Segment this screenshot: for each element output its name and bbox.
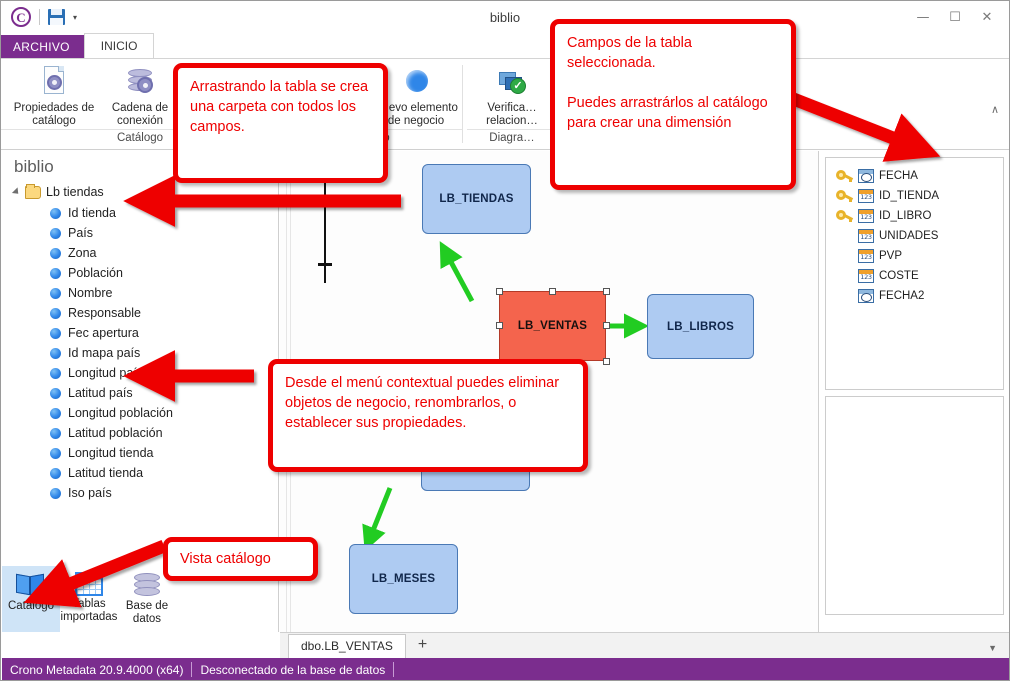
bullet-icon bbox=[50, 468, 61, 479]
diagram-node-label: LB_LIBROS bbox=[667, 321, 734, 333]
tree-field-label: Iso país bbox=[68, 486, 112, 500]
ribbon-divider bbox=[462, 65, 463, 143]
add-tab-button[interactable]: + bbox=[406, 634, 439, 658]
tree-field-label: Latitud población bbox=[68, 426, 163, 440]
tree-field-item[interactable]: Longitud tienda bbox=[8, 443, 278, 463]
field-row[interactable]: 123UNIDADES bbox=[826, 226, 1003, 246]
tree-field-item[interactable]: Zona bbox=[8, 243, 278, 263]
title-bar: C ▾ biblio — ☐ ✕ bbox=[1, 1, 1009, 33]
ribbon-collapse-icon[interactable]: ∧ bbox=[991, 103, 999, 116]
bullet-icon bbox=[50, 348, 61, 359]
bullet-icon bbox=[50, 288, 61, 299]
key-icon bbox=[836, 189, 853, 203]
bullet-icon bbox=[50, 408, 61, 419]
callout-catalog-view: Vista catálogo bbox=[163, 537, 318, 581]
resize-handle-e[interactable] bbox=[603, 322, 610, 329]
number-type-icon: 123 bbox=[858, 209, 874, 223]
nav-item-tablas-importadas[interactable]: Tablas importadas bbox=[60, 566, 118, 632]
field-name: UNIDADES bbox=[879, 230, 938, 242]
tree-field-label: Longitud tienda bbox=[68, 446, 154, 460]
resize-handle-nw[interactable] bbox=[496, 288, 503, 295]
field-row[interactable]: 123ID_LIBRO bbox=[826, 206, 1003, 226]
ribbon: Propiedades de catálogo Cadena de conexi… bbox=[1, 58, 1009, 150]
maximize-button[interactable]: ☐ bbox=[939, 2, 971, 32]
diagram-node-lb-ventas[interactable]: LB_VENTAS bbox=[499, 291, 606, 361]
bullet-icon bbox=[50, 308, 61, 319]
tab-inicio[interactable]: INICIO bbox=[84, 33, 155, 59]
resize-handle-ne[interactable] bbox=[603, 288, 610, 295]
tree-field-item[interactable]: Nombre bbox=[8, 283, 278, 303]
field-name: ID_LIBRO bbox=[879, 210, 931, 222]
tree-field-label: Nombre bbox=[68, 286, 112, 300]
tabstrip-left-filler bbox=[2, 632, 280, 658]
tree-field-label: Fec apertura bbox=[68, 326, 139, 340]
key-icon-placeholder bbox=[836, 249, 853, 263]
field-name: ID_TIENDA bbox=[879, 190, 939, 202]
date-type-icon bbox=[858, 169, 874, 183]
status-connection: Desconectado de la base de datos bbox=[192, 663, 393, 677]
tree-children: Id tiendaPaísZonaPoblaciónNombreResponsa… bbox=[8, 203, 278, 503]
window-controls: — ☐ ✕ bbox=[907, 1, 1003, 33]
resize-handle-n[interactable] bbox=[549, 288, 556, 295]
ribbon-group-diagrama: ✓ Verifica… relacion… Diagra… bbox=[467, 61, 557, 149]
diagram-connector-cardinality bbox=[318, 263, 332, 266]
key-icon bbox=[836, 209, 853, 223]
document-tab-dbo-lb-ventas[interactable]: dbo.LB_VENTAS bbox=[288, 634, 406, 658]
tree-field-item[interactable]: Id mapa país bbox=[8, 343, 278, 363]
tree-field-item[interactable]: Población bbox=[8, 263, 278, 283]
tree-field-label: Latitud tienda bbox=[68, 466, 143, 480]
callout-drag-table: Arrastrando la tabla se crea una carpeta… bbox=[173, 63, 388, 183]
bullet-icon bbox=[50, 208, 61, 219]
tree-node-lb-tiendas[interactable]: Lb tiendas bbox=[8, 181, 278, 203]
number-type-icon: 123 bbox=[858, 229, 874, 243]
diagram-node-label: LB_TIENDAS bbox=[439, 193, 513, 205]
ribbon-button-cadena-conexion[interactable]: Cadena de conexión bbox=[97, 61, 183, 128]
date-type-icon bbox=[858, 289, 874, 303]
ribbon-button-label: Propiedades de catálogo bbox=[11, 102, 97, 128]
document-tab-strip: dbo.LB_VENTAS + ▼ bbox=[280, 632, 1009, 658]
number-type-icon: 123 bbox=[858, 269, 874, 283]
tree-field-item[interactable]: Latitud país bbox=[8, 383, 278, 403]
key-icon bbox=[836, 169, 853, 183]
tree-field-label: Población bbox=[68, 266, 123, 280]
tree-field-label: Responsable bbox=[68, 306, 141, 320]
chevron-expand-icon[interactable] bbox=[12, 187, 21, 196]
properties-panel[interactable] bbox=[825, 396, 1004, 615]
verify-relations-icon: ✓ bbox=[495, 65, 529, 99]
blue-ball-icon bbox=[399, 65, 433, 99]
document-gear-icon bbox=[37, 65, 71, 99]
catalog-tree: Lb tiendas Id tiendaPaísZonaPoblaciónNom… bbox=[2, 181, 278, 503]
bullet-icon bbox=[50, 488, 61, 499]
nav-item-label: Catálogo bbox=[8, 600, 54, 613]
tree-field-item[interactable]: Id tienda bbox=[8, 203, 278, 223]
window-title: biblio bbox=[1, 10, 1009, 25]
ribbon-group-label: Diagra… bbox=[467, 129, 557, 144]
diagram-node-label: LB_VENTAS bbox=[518, 320, 587, 332]
minimize-button[interactable]: — bbox=[907, 2, 939, 32]
tree-field-item[interactable]: Iso país bbox=[8, 483, 278, 503]
status-bar: Crono Metadata 20.9.4000 (x64) Desconect… bbox=[2, 658, 1010, 681]
database-icon bbox=[134, 572, 160, 598]
nav-item-catalogo[interactable]: Catálogo bbox=[2, 566, 60, 632]
key-icon-placeholder bbox=[836, 229, 853, 243]
field-row[interactable]: FECHA2 bbox=[826, 286, 1003, 306]
bullet-icon bbox=[50, 428, 61, 439]
callout-context-menu: Desde el menú contextual puedes eliminar… bbox=[268, 359, 588, 472]
folder-icon bbox=[25, 186, 41, 199]
fields-list[interactable]: FECHA123ID_TIENDA123ID_LIBRO123UNIDADES1… bbox=[825, 157, 1004, 390]
field-name: COSTE bbox=[879, 270, 919, 282]
tree-field-label: Longitud país bbox=[68, 366, 143, 380]
resize-handle-w[interactable] bbox=[496, 322, 503, 329]
field-name: PVP bbox=[879, 250, 902, 262]
tree-field-label: Longitud población bbox=[68, 406, 173, 420]
status-version: Crono Metadata 20.9.4000 (x64) bbox=[2, 663, 191, 677]
diagram-node-label: LB_MESES bbox=[372, 573, 436, 585]
chevron-down-icon[interactable]: ▼ bbox=[988, 643, 997, 653]
bullet-icon bbox=[50, 228, 61, 239]
bullet-icon bbox=[50, 448, 61, 459]
table-grid-icon bbox=[75, 572, 103, 596]
tree-field-label: País bbox=[68, 226, 93, 240]
ribbon-tab-strip: ARCHIVO INICIO bbox=[1, 33, 1009, 59]
number-type-icon: 123 bbox=[858, 189, 874, 203]
tree-field-label: Id tienda bbox=[68, 206, 116, 220]
ribbon-button-verificar-relaciones[interactable]: ✓ Verifica… relacion… bbox=[469, 61, 555, 128]
nav-item-label: Base de datos bbox=[118, 600, 176, 626]
database-gear-icon bbox=[123, 65, 157, 99]
bullet-icon bbox=[50, 388, 61, 399]
book-icon bbox=[16, 572, 46, 598]
fields-panel: FECHA123ID_TIENDA123ID_LIBRO123UNIDADES1… bbox=[820, 151, 1009, 632]
number-type-icon: 123 bbox=[858, 249, 874, 263]
diagram-node-lb-meses[interactable]: LB_MESES bbox=[349, 544, 458, 614]
diagram-node-lb-libros[interactable]: LB_LIBROS bbox=[647, 294, 754, 359]
tree-field-item[interactable]: Fec apertura bbox=[8, 323, 278, 343]
nav-item-label: Tablas importadas bbox=[60, 598, 118, 624]
bullet-icon bbox=[50, 248, 61, 259]
field-row[interactable]: 123COSTE bbox=[826, 266, 1003, 286]
key-icon-placeholder bbox=[836, 289, 853, 303]
tree-field-item[interactable]: Responsable bbox=[8, 303, 278, 323]
field-row[interactable]: 123ID_TIENDA bbox=[826, 186, 1003, 206]
tree-field-item[interactable]: Longitud país bbox=[8, 363, 278, 383]
field-row[interactable]: 123PVP bbox=[826, 246, 1003, 266]
tab-archivo[interactable]: ARCHIVO bbox=[1, 35, 84, 59]
bullet-icon bbox=[50, 268, 61, 279]
tree-field-item[interactable]: Latitud población bbox=[8, 423, 278, 443]
ribbon-button-propiedades-catalogo[interactable]: Propiedades de catálogo bbox=[11, 61, 97, 128]
key-icon-placeholder bbox=[836, 269, 853, 283]
tree-field-label: Latitud país bbox=[68, 386, 133, 400]
resize-handle-se[interactable] bbox=[603, 358, 610, 365]
tree-field-item[interactable]: Longitud población bbox=[8, 403, 278, 423]
field-name: FECHA2 bbox=[879, 290, 924, 302]
application-window: C ▾ biblio — ☐ ✕ ARCHIVO INICIO bbox=[0, 0, 1010, 681]
field-row[interactable]: FECHA bbox=[826, 166, 1003, 186]
tree-node-label: Lb tiendas bbox=[46, 185, 104, 199]
field-name: FECHA bbox=[879, 170, 918, 182]
tree-field-item[interactable]: País bbox=[8, 223, 278, 243]
tree-field-label: Zona bbox=[68, 246, 97, 260]
status-divider bbox=[393, 662, 394, 677]
close-button[interactable]: ✕ bbox=[971, 2, 1003, 32]
ribbon-button-label: Cadena de conexión bbox=[97, 102, 183, 128]
bullet-icon bbox=[50, 328, 61, 339]
bullet-icon bbox=[50, 368, 61, 379]
tree-field-item[interactable]: Latitud tienda bbox=[8, 463, 278, 483]
ribbon-button-label: Verifica… relacion… bbox=[469, 102, 555, 128]
tree-field-label: Id mapa país bbox=[68, 346, 140, 360]
diagram-node-lb-tiendas[interactable]: LB_TIENDAS bbox=[422, 164, 531, 234]
callout-table-fields: Campos de la tabla seleccionada. Puedes … bbox=[550, 19, 796, 190]
